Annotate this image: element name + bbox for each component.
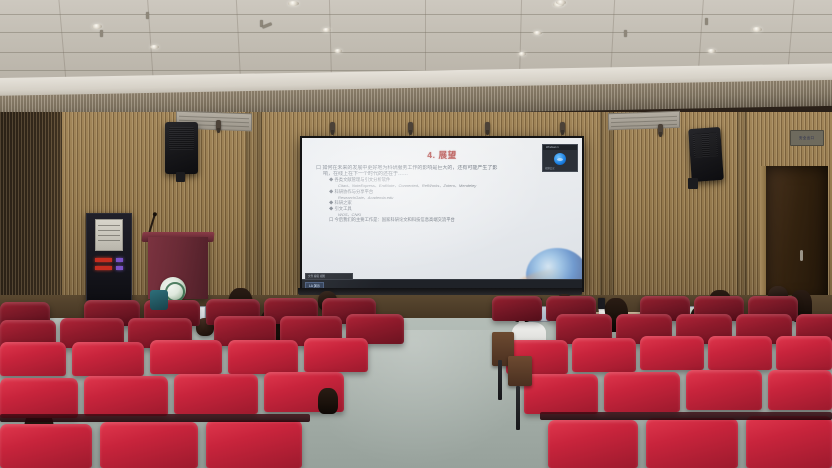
- auditorium-seat[interactable]: [0, 378, 78, 418]
- video-conference-thumbnail[interactable]: Windows 1 视频会议: [542, 144, 578, 172]
- ceiling-downlight: [556, 0, 566, 5]
- smartphone[interactable]: [598, 298, 605, 309]
- ceiling-downlight: [334, 49, 342, 53]
- speaker-bracket-left: [176, 172, 185, 182]
- av-equipment-rack[interactable]: [86, 213, 132, 301]
- exit-sign: 安全出口: [790, 130, 824, 146]
- wall-column: [246, 112, 262, 302]
- stage-spotlight: [408, 122, 413, 133]
- seat-row-shadow: [0, 414, 310, 422]
- auditorium-seat[interactable]: [524, 374, 598, 414]
- auditorium-seat[interactable]: [572, 338, 636, 372]
- audience-member: [318, 388, 338, 414]
- exit-door[interactable]: [766, 166, 828, 302]
- sprinkler-head: [624, 30, 627, 37]
- sprinkler-head: [100, 30, 103, 37]
- ceiling-downlight: [752, 27, 762, 32]
- rack-led-display: [95, 258, 112, 262]
- auditorium-seat[interactable]: [646, 418, 738, 468]
- sprinkler-head: [146, 12, 149, 19]
- ceiling-downlight: [518, 52, 526, 56]
- auditorium-seat[interactable]: [708, 336, 772, 370]
- taskbar-menu-strip[interactable]: 文件 编辑 视图: [305, 273, 353, 280]
- ceiling-downlight: [322, 28, 331, 32]
- wall-speaker-right: [688, 127, 724, 182]
- auditorium-seat[interactable]: [174, 374, 258, 414]
- stage-spotlight: [658, 124, 663, 135]
- ceiling-downlight: [92, 24, 102, 29]
- screen-bottom-edge: [298, 288, 582, 295]
- vc-title-bar: Windows 1: [543, 145, 577, 150]
- wall-column: [600, 112, 614, 302]
- lecture-hall-photo: 安全出口 4. 展望 口 如何在未来的发展中更好地为科研服务工作的影响是巨大的，…: [0, 0, 832, 468]
- stage-spotlight: [560, 122, 565, 133]
- auditorium-seat[interactable]: [492, 296, 542, 321]
- auditorium-seat[interactable]: [84, 376, 168, 416]
- auditorium-seat[interactable]: [0, 424, 92, 468]
- auditorium-seat[interactable]: [776, 336, 832, 370]
- sprinkler-head: [262, 22, 272, 29]
- ceiling-downlight: [533, 31, 542, 35]
- projection-screen-frame: 4. 展望 口 如何在未来的发展中更好地为科研服务工作的影响是巨大的，还有可能产…: [300, 136, 584, 292]
- ceiling-downlight: [150, 45, 159, 49]
- side-desk: [508, 356, 532, 386]
- desk-leg: [516, 386, 520, 430]
- auditorium-seat[interactable]: [304, 338, 368, 372]
- ceiling-downlight: [288, 1, 299, 6]
- stage-spotlight: [485, 122, 490, 133]
- projection-screen: 4. 展望 口 如何在未来的发展中更好地为科研服务工作的影响是巨大的，还有可能产…: [302, 138, 582, 290]
- stage-spotlight: [330, 122, 335, 133]
- seat-row-shadow: [540, 412, 832, 420]
- exit-sign-label: 安全出口: [799, 136, 814, 140]
- vc-footer-label: 视频会议: [545, 167, 555, 170]
- slide-line: 口 今后我们的主要工作是：国家科研论文和科技信息高端交流平台: [329, 217, 572, 223]
- wall-column: [737, 112, 747, 302]
- auditorium-seat[interactable]: [548, 420, 638, 468]
- ceiling-downlight: [707, 49, 716, 53]
- rack-led-display: [95, 266, 112, 270]
- auditorium-seat[interactable]: [150, 340, 222, 374]
- auditorium-seat[interactable]: [640, 336, 704, 370]
- door-handle[interactable]: [800, 250, 803, 261]
- rack-led-indicator: [116, 258, 123, 262]
- auditorium-seat[interactable]: [0, 342, 66, 376]
- auditorium-seat[interactable]: [604, 372, 680, 412]
- desk-leg: [498, 360, 502, 400]
- slide-title: 4. 展望: [302, 149, 582, 161]
- stage-spotlight: [216, 120, 221, 131]
- slide-body: 口 如何在未来的发展中更好地为科研服务工作的影响是巨大的，还有可能产生了影 响，…: [316, 165, 572, 223]
- rack-led-indicator: [116, 266, 123, 270]
- auditorium-seat[interactable]: [100, 422, 198, 468]
- rack-paper-panel: [95, 219, 123, 251]
- speaker-bracket-right: [688, 178, 698, 189]
- vc-avatar-icon: [554, 153, 566, 165]
- wall-left-dark-panel: [0, 112, 62, 317]
- auditorium-seat[interactable]: [686, 370, 762, 410]
- auditorium-seat[interactable]: [228, 340, 298, 374]
- auditorium-seat[interactable]: [72, 342, 144, 376]
- sprinkler-head: [705, 18, 708, 25]
- vc-name-label: Windows 1: [546, 146, 559, 150]
- shoulder-bag: [150, 290, 168, 310]
- ac-vent: [608, 111, 680, 131]
- auditorium-seat[interactable]: [768, 370, 832, 410]
- wall-speaker-left: [165, 122, 198, 174]
- auditorium-seat[interactable]: [746, 416, 832, 468]
- auditorium-seat[interactable]: [206, 420, 302, 468]
